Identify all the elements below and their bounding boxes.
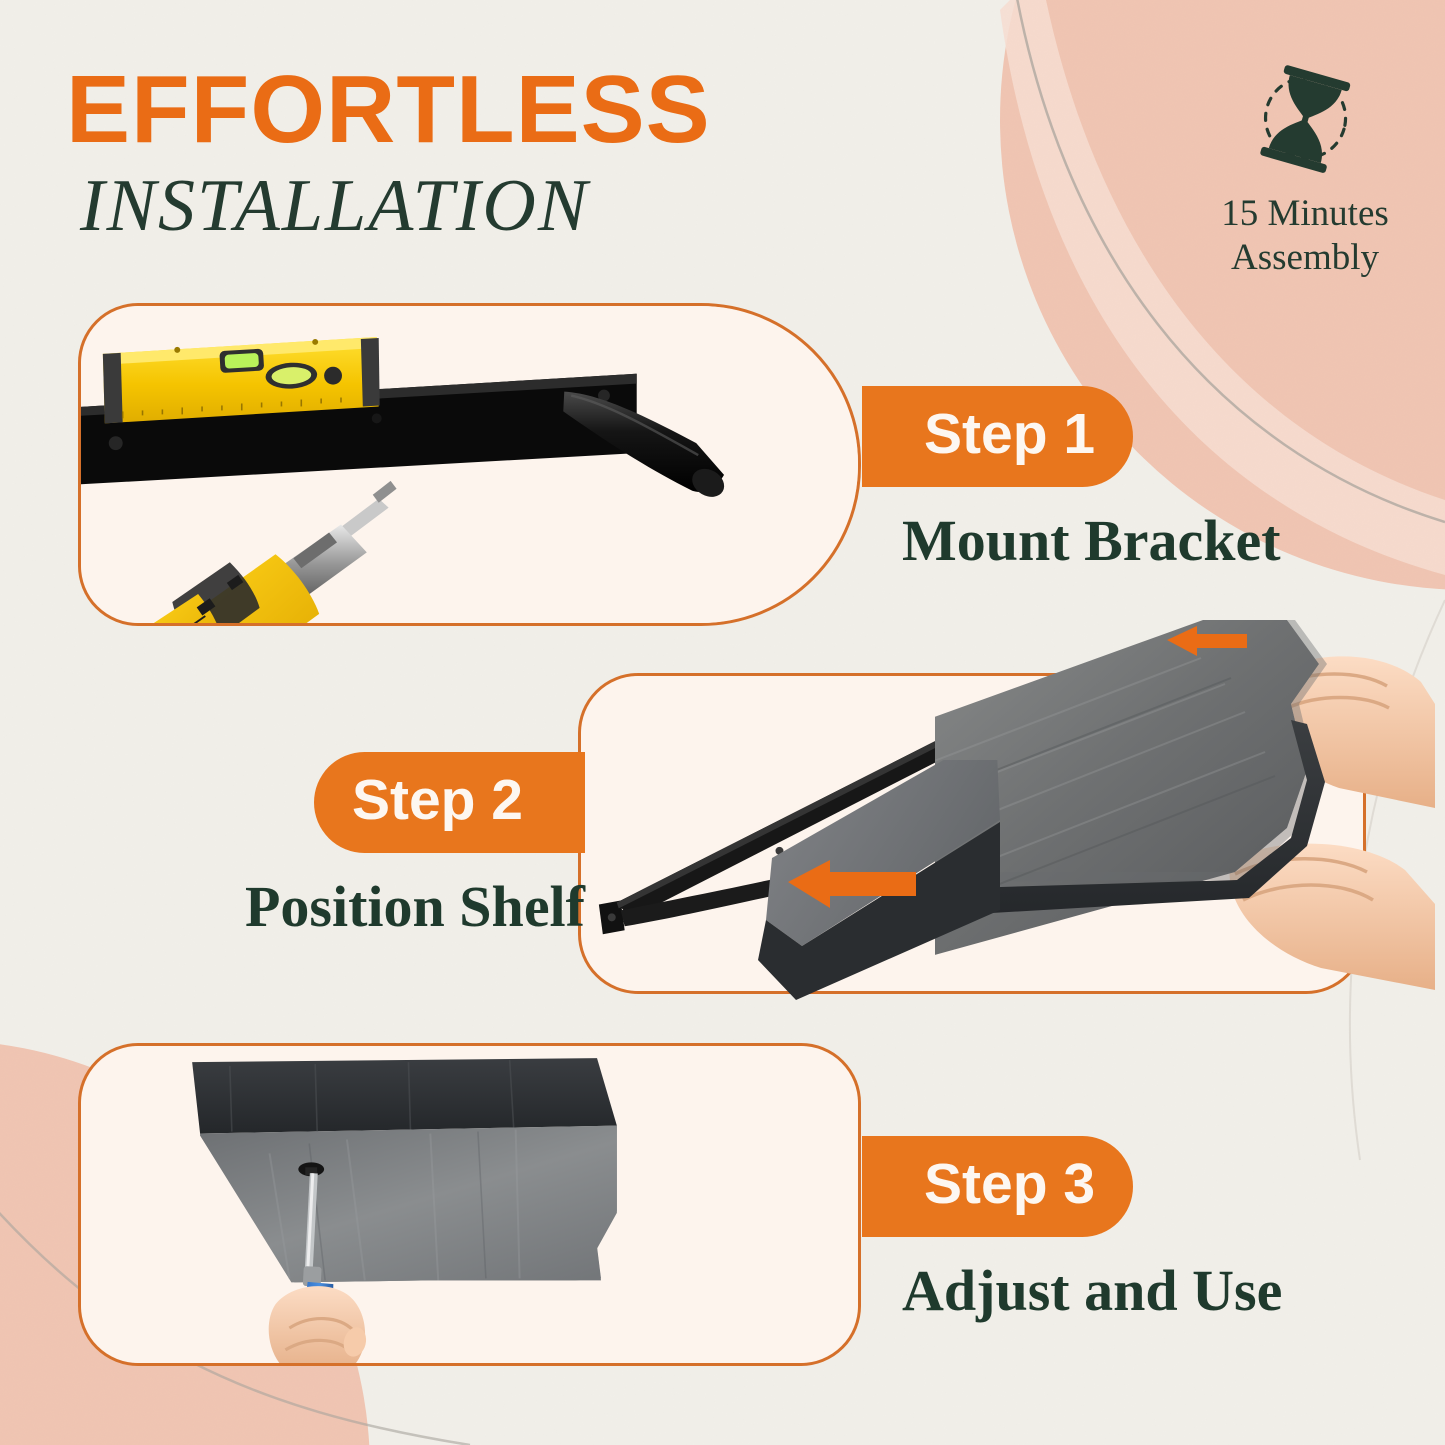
step-1-photo-card: —: [78, 303, 861, 626]
step-3-photo-card: [78, 1043, 861, 1366]
page-subtitle: INSTALLATION: [80, 164, 711, 249]
step-3-photo: [81, 1046, 858, 1363]
step-2-photo-card: [578, 673, 1366, 994]
step-3-photo-clip: [81, 1046, 858, 1363]
step-2-pill[interactable]: Step 2: [314, 752, 585, 853]
step-2-photo-clip: [581, 676, 1363, 991]
step-1-photo-clip: —: [81, 306, 858, 623]
assembly-time-badge: 15 Minutes Assembly: [1190, 60, 1420, 279]
step-3-pill[interactable]: Step 3: [862, 1136, 1133, 1237]
page-header: EFFORTLESS INSTALLATION: [66, 62, 711, 249]
step-2-label-block: Step 2 Position Shelf: [245, 752, 585, 939]
step-3-label-block: Step 3 Adjust and Use: [862, 1136, 1282, 1323]
step-3-caption: Adjust and Use: [902, 1259, 1282, 1323]
assembly-time-line-2: Assembly: [1190, 236, 1420, 280]
hourglass-icon: [1245, 60, 1365, 180]
step-1-photo: —: [81, 306, 858, 623]
step-1-pill[interactable]: Step 1: [862, 386, 1133, 487]
step-2-photo-background: [581, 676, 1363, 991]
step-1-label-block: Step 1 Mount Bracket: [862, 386, 1281, 573]
page-title: EFFORTLESS: [66, 62, 711, 158]
step-1-caption: Mount Bracket: [902, 509, 1281, 573]
assembly-time-line-1: 15 Minutes: [1190, 192, 1420, 236]
step-2-caption: Position Shelf: [245, 875, 557, 939]
